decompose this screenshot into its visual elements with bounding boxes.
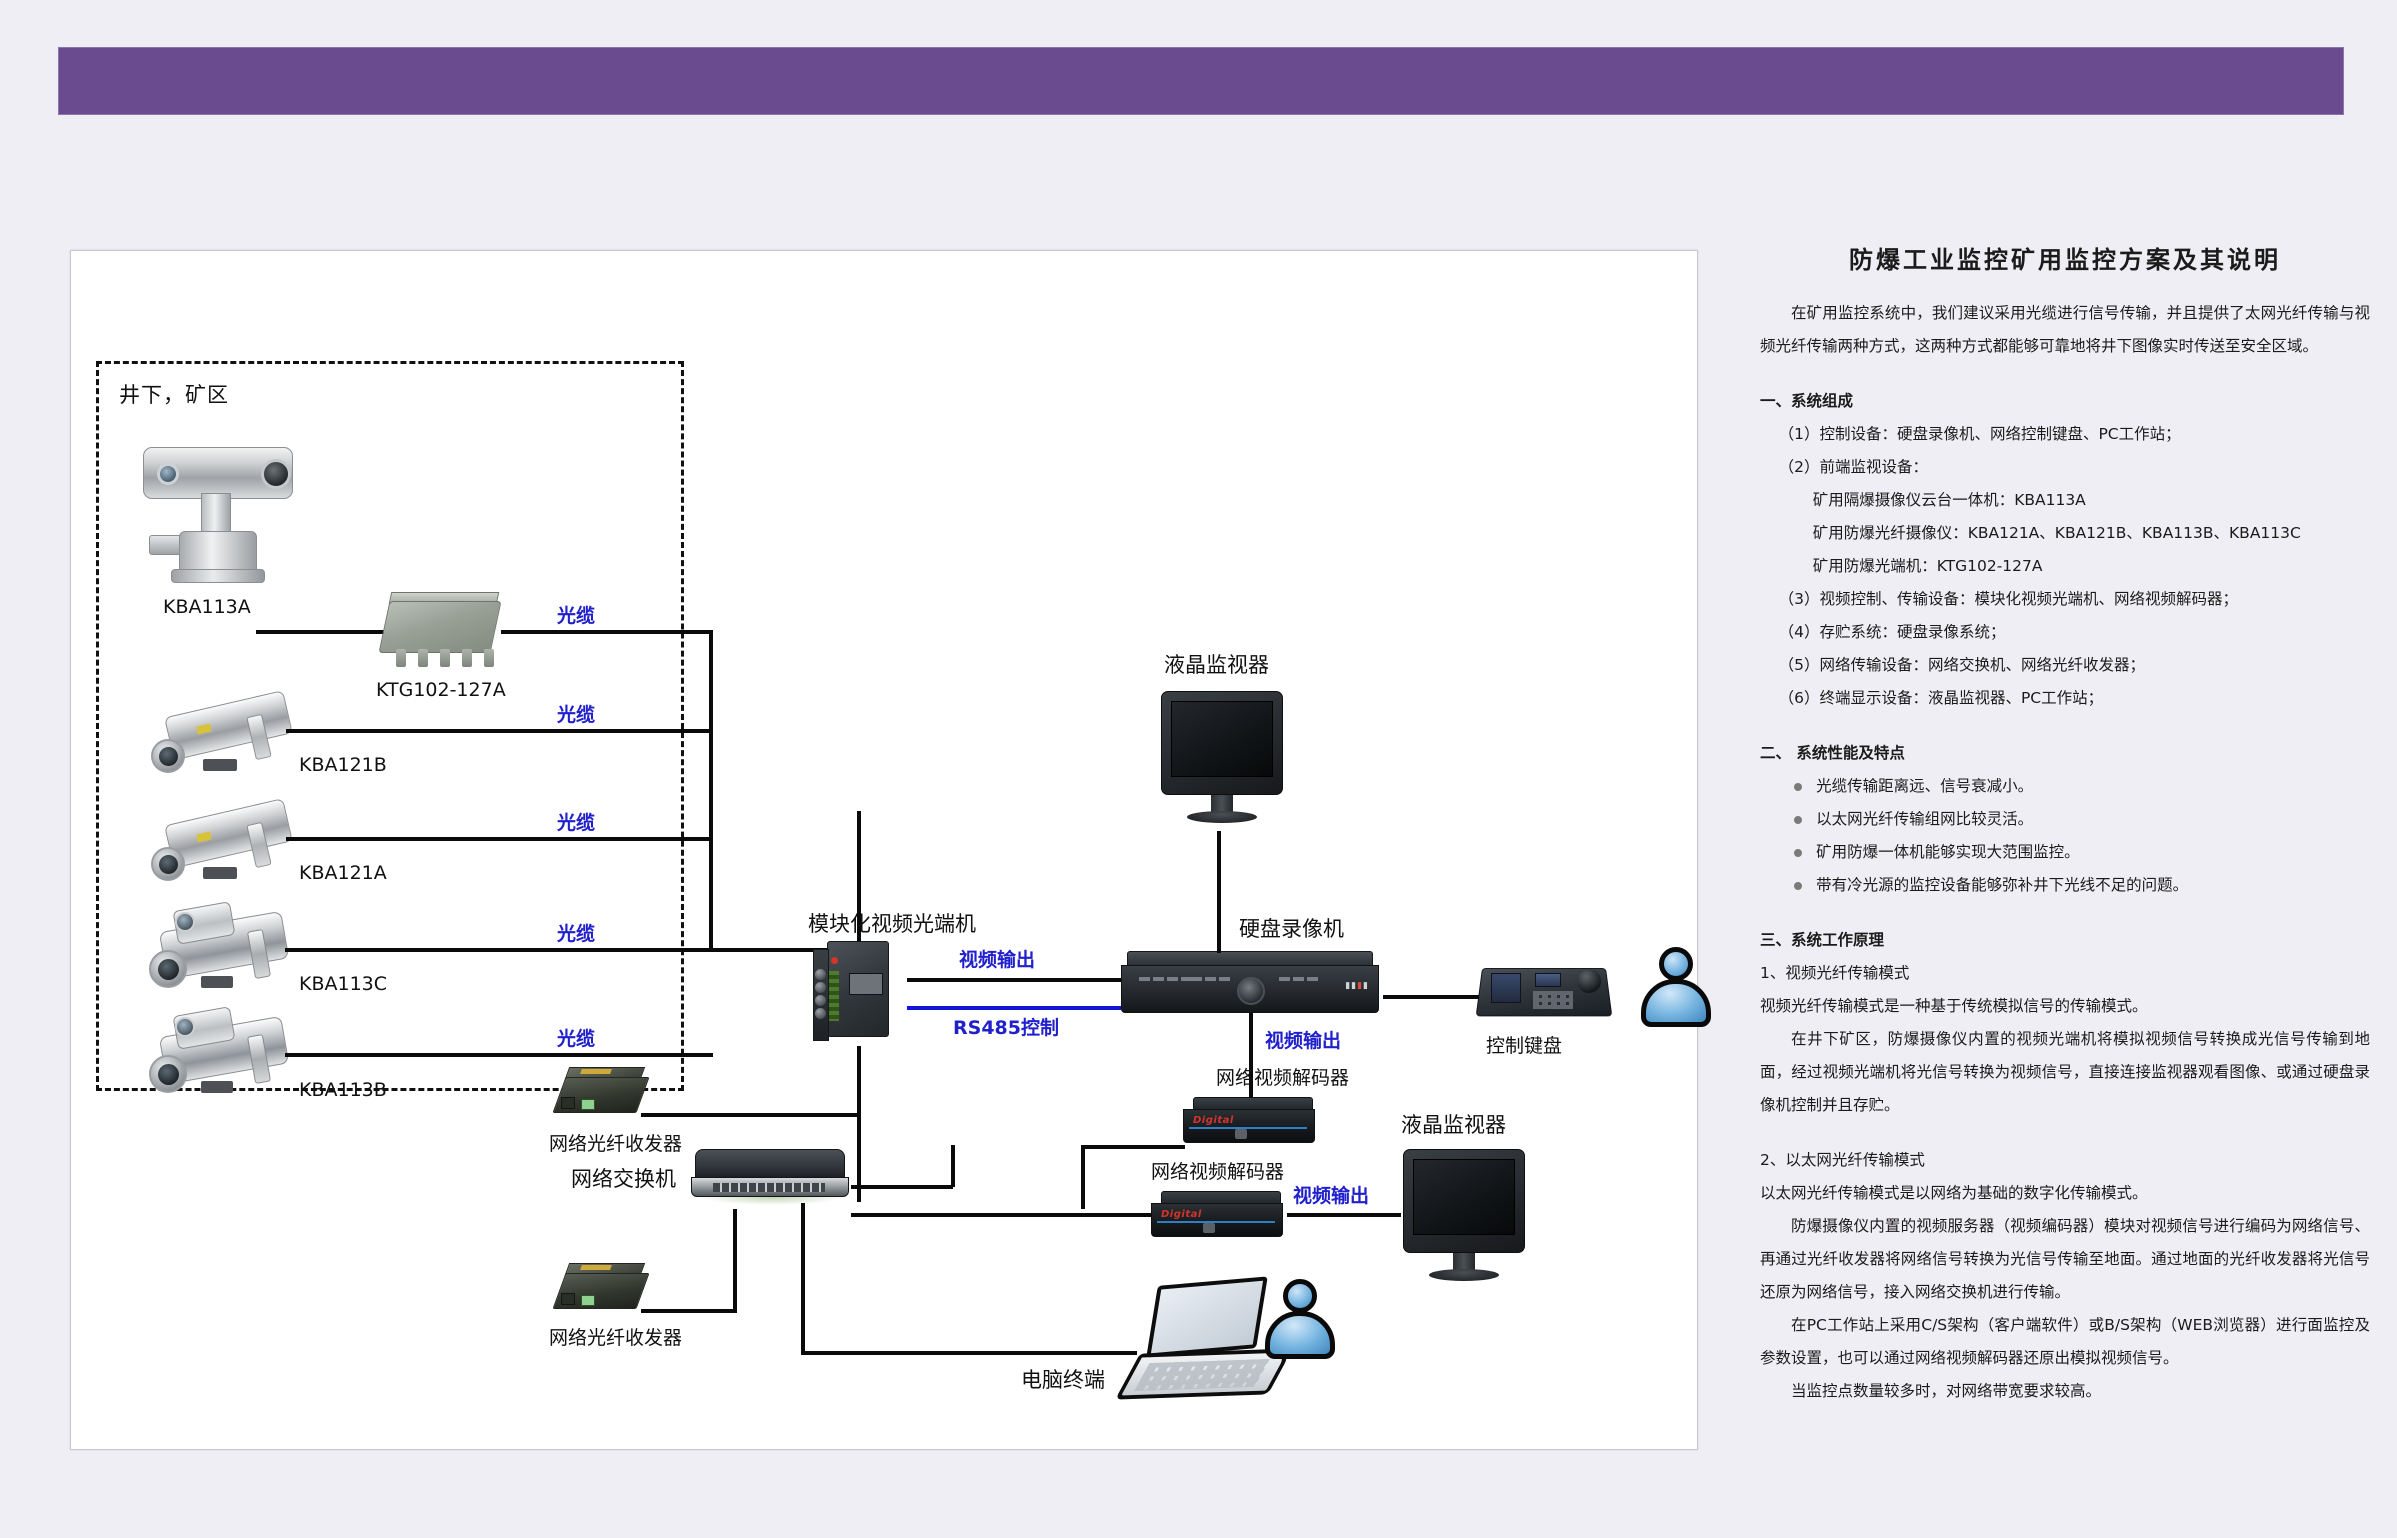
converter-rj45-port-icon	[581, 1295, 595, 1306]
label-cable-2: 光缆	[557, 700, 595, 727]
converter-sfp-port-icon	[561, 1293, 575, 1305]
dvr-buttons-icon	[1191, 977, 1230, 981]
device-camera-kba121a	[151, 811, 321, 901]
device-network-video-decoder-bottom: Digital	[1151, 1191, 1287, 1241]
converter-sfp-port-icon	[561, 1097, 575, 1109]
label-kba121a: KBA121A	[299, 862, 387, 884]
decoder-accent-stripe-icon	[1157, 1221, 1275, 1223]
article-panel: 防爆工业监控矿用监控方案及其说明 在矿用监控系统中，我们建议采用光缆进行信号传输…	[1760, 240, 2370, 1408]
device-junction-box-ktg102	[384, 601, 514, 681]
label-kba113a: KBA113A	[163, 596, 251, 618]
dvr-buttons-icon	[1139, 977, 1192, 981]
keyboard-secondary-display-icon	[1535, 973, 1561, 987]
section-3-sub2-heading: 2、以太网光纤传输模式	[1760, 1144, 2370, 1177]
section-1-item: （2）前端监视设备：	[1779, 451, 2370, 484]
link-decoder-mid-to-bus	[1081, 1145, 1185, 1149]
link-kba113c-to-trunk	[285, 948, 713, 952]
bullet-item: 以太网光纤传输组网比较灵活。	[1794, 803, 2370, 836]
bullet-item: 带有冷光源的监控设备能够弥补井下光线不足的问题。	[1794, 869, 2370, 902]
article-intro: 在矿用监控系统中，我们建议采用光缆进行信号传输，并且提供了太网光纤传输与视频光纤…	[1760, 297, 2370, 363]
terminal-block-icon	[829, 971, 839, 1021]
device-lcd-monitor-right	[1403, 1149, 1529, 1289]
label-kba113b: KBA113B	[299, 1079, 387, 1101]
gland-icon	[418, 649, 428, 667]
switch-top-cover-icon	[695, 1149, 845, 1179]
link-decoder-to-lcd-right	[1287, 1213, 1401, 1217]
label-kba121b: KBA121B	[299, 754, 387, 776]
ir-lamp-face-icon	[175, 912, 195, 932]
label-video-output-1: 视频输出	[959, 945, 1035, 972]
device-network-switch	[691, 1149, 851, 1207]
keyboard-display-icon	[1491, 973, 1521, 1003]
trunk-riser-vertical	[709, 630, 713, 950]
link-switch-bus-riser	[951, 1145, 955, 1187]
diagram-panel: 井下，矿区 KBA113A KTG102-127A 光缆	[70, 250, 1698, 1450]
camera-mount-icon	[203, 759, 237, 771]
label-fiber-converter-mid: 网络光纤收发器	[549, 1129, 682, 1156]
diagram-canvas: 井下，矿区 KBA113A KTG102-127A 光缆	[71, 251, 1697, 1449]
device-modular-video-optical-transceiver	[813, 941, 913, 1051]
laptop-keyboard-icon	[1134, 1359, 1269, 1391]
camera-lens-icon	[158, 959, 179, 980]
operator-avatar-top	[1639, 947, 1715, 1031]
camera-mount-icon	[201, 976, 233, 988]
gland-icon	[484, 649, 494, 667]
underground-zone-label: 井下，矿区	[119, 379, 229, 409]
link-decoder-mid-down	[1081, 1147, 1085, 1209]
section-1-item: （4）存贮系统：硬盘录像系统；	[1779, 616, 2370, 649]
section-2-heading: 二、 系统性能及特点	[1760, 737, 2370, 770]
power-led-icon	[831, 957, 838, 964]
link-switch-to-laptop	[801, 1351, 1137, 1355]
transceiver-faceplate-icon	[849, 973, 883, 995]
label-control-keyboard: 控制键盘	[1486, 1031, 1562, 1058]
avatar-body-icon	[1641, 979, 1711, 1027]
decoder-brand-icon: Digital	[1161, 1209, 1202, 1220]
device-fiber-converter-mid	[559, 1067, 651, 1117]
section-3-sub2-paragraph-3: 在PC工作站上采用C/S架构（客户端软件）或B/S架构（WEB浏览器）进行面监控…	[1760, 1309, 2370, 1375]
section-3-sub2-paragraph-2: 防爆摄像仪内置的视频服务器（视频编码器）模块对视频信号进行编码为网络信号、再通过…	[1760, 1210, 2370, 1309]
label-modular-video-optical: 模块化视频光端机	[808, 908, 976, 938]
label-video-output-3: 视频输出	[1293, 1181, 1369, 1208]
label-network-video-decoder-mid: 网络视频解码器	[1216, 1063, 1349, 1090]
avatar-body-icon	[1265, 1311, 1335, 1359]
keyboard-keys-icon	[1533, 991, 1573, 1009]
avatar-head-icon	[1659, 947, 1693, 981]
spacer	[1760, 715, 2370, 737]
label-fiber-converter-bottom: 网络光纤收发器	[549, 1323, 682, 1350]
link-kba121a-to-trunk	[286, 837, 713, 841]
junction-box-body-icon	[378, 601, 501, 653]
link-fiberconv-mid-to-bus	[641, 1113, 857, 1117]
converter-rj45-port-icon	[581, 1099, 595, 1110]
device-camera-kba121b	[151, 703, 321, 793]
camera-lens-icon	[159, 855, 178, 874]
link-fiberconv-bottom-riser	[733, 1209, 737, 1311]
spacer	[1760, 1122, 2370, 1144]
device-camera-kba113c	[149, 906, 319, 1006]
top-banner	[58, 47, 2344, 115]
section-1-item: （6）终端显示设备：液晶监视器、PC工作站；	[1779, 682, 2370, 715]
device-control-keyboard	[1479, 957, 1613, 1021]
camera-mount-icon	[203, 867, 237, 879]
section-3-sub1-paragraph-2: 在井下矿区，防爆摄像仪内置的视频光端机将模拟视频信号转换成光信号传输到地面，经过…	[1760, 1023, 2370, 1122]
link-kba113b-to-fiberconv	[285, 1053, 713, 1057]
label-video-output-2: 视频输出	[1265, 1026, 1341, 1053]
section-3-sub1-paragraph-1: 视频光纤传输模式是一种基于传统模拟信号的传输模式。	[1760, 990, 2370, 1023]
link-kba121b-to-trunk	[286, 729, 713, 733]
section-1-subitem: 矿用防爆光纤摄像仪：KBA121A、KBA121B、KBA113B、KBA113…	[1813, 517, 2370, 550]
monitor-stand-base-icon	[1187, 811, 1257, 823]
ptz-base-icon	[179, 531, 257, 573]
dvr-buttons-icon	[1279, 977, 1318, 981]
spacer	[1760, 363, 2370, 385]
label-pc-terminal: 电脑终端	[1021, 1364, 1105, 1394]
ptz-foot-icon	[171, 569, 265, 583]
device-ptz-camera-kba113a	[143, 419, 313, 589]
label-ktg102-127a: KTG102-127A	[376, 679, 506, 701]
camera-lens-icon	[159, 747, 178, 766]
avatar-head-icon	[1283, 1279, 1317, 1313]
section-1-item: （5）网络传输设备：网络交换机、网络光纤收发器；	[1779, 649, 2370, 682]
device-dvr: ▮▮▮▮	[1121, 951, 1383, 1015]
gland-icon	[462, 649, 472, 667]
spacer	[1760, 902, 2370, 924]
section-1-item: （1）控制设备：硬盘录像机、网络控制键盘、PC工作站；	[1779, 418, 2370, 451]
label-cable-4: 光缆	[557, 919, 595, 946]
article-title: 防爆工业监控矿用监控方案及其说明	[1760, 240, 2370, 275]
device-network-video-decoder-mid: Digital	[1183, 1097, 1319, 1147]
label-cable-1: 光缆	[557, 601, 595, 628]
ptz-ir-lamp-icon	[157, 463, 179, 485]
label-network-switch: 网络交换机	[571, 1163, 676, 1193]
device-camera-kba113b	[149, 1011, 319, 1111]
link-fiberconv-bottom-to-switch	[641, 1309, 737, 1313]
monitor-screen-icon	[1171, 701, 1273, 777]
link-switch-to-decoder-bus	[851, 1185, 953, 1189]
section-1-item: （3）视频控制、传输设备：模块化视频光端机、网络视频解码器；	[1779, 583, 2370, 616]
section-3-heading: 三、系统工作原理	[1760, 924, 2370, 957]
section-1-subitem: 矿用隔爆摄像仪云台一体机：KBA113A	[1813, 484, 2370, 517]
link-rs485-control	[907, 1006, 1121, 1010]
monitor-screen-icon	[1413, 1159, 1515, 1235]
switch-ports-icon	[713, 1183, 825, 1192]
camera-mount-icon	[201, 1081, 233, 1093]
link-ptz-to-junctionbox	[256, 630, 384, 634]
ptz-connector-icon	[149, 535, 183, 555]
monitor-stand-base-icon	[1429, 1269, 1499, 1281]
label-dvr: 硬盘录像机	[1239, 913, 1344, 943]
gland-icon	[396, 649, 406, 667]
link-video-output-to-dvr	[907, 978, 1121, 982]
keyboard-joystick-icon[interactable]	[1577, 969, 1601, 993]
dvr-brand-icon: ▮▮▮▮	[1345, 981, 1369, 991]
gland-icon	[440, 649, 450, 667]
label-rs485-control: RS485控制	[953, 1013, 1059, 1040]
laptop-screen-icon	[1146, 1276, 1268, 1357]
section-3-sub2-paragraph-1: 以太网光纤传输模式是以网络为基础的数字化传输模式。	[1760, 1177, 2370, 1210]
ir-lamp-face-icon	[175, 1017, 195, 1037]
switch-shadow-icon	[699, 1197, 845, 1205]
label-network-video-decoder-bottom: 网络视频解码器	[1151, 1157, 1284, 1184]
device-lcd-monitor-top	[1161, 691, 1287, 831]
section-3-sub2-paragraph-4: 当监控点数量较多时，对网络带宽要求较高。	[1760, 1375, 2370, 1408]
bnc-connectors-icon	[814, 967, 828, 1027]
decoder-brand-icon: Digital	[1193, 1115, 1234, 1126]
operator-avatar-bottom	[1263, 1279, 1339, 1363]
decoder-button-icon	[1203, 1223, 1215, 1233]
section-1-subitem: 矿用防爆光端机：KTG102-127A	[1813, 550, 2370, 583]
section-2-bullet-list: 光缆传输距离远、信号衰减小。 以太网光纤传输组网比较灵活。 矿用防爆一体机能够实…	[1760, 770, 2370, 902]
label-cable-3: 光缆	[557, 808, 595, 835]
label-lcd-monitor-right: 液晶监视器	[1401, 1109, 1506, 1139]
link-switch-to-laptop-riser	[801, 1203, 805, 1355]
link-junctionbox-to-trunk	[501, 630, 713, 634]
label-cable-5: 光缆	[557, 1024, 595, 1051]
device-fiber-converter-bottom	[559, 1263, 651, 1313]
converter-label-icon	[580, 1265, 612, 1270]
dvr-jog-dial-icon[interactable]	[1237, 977, 1265, 1005]
converter-label-icon	[580, 1069, 612, 1074]
link-dvr-to-lcd-monitor	[1217, 831, 1221, 953]
section-1-heading: 一、系统组成	[1760, 385, 2370, 418]
bullet-item: 矿用防爆一体机能够实现大范围监控。	[1794, 836, 2370, 869]
link-switch-to-decoder-bottom	[851, 1213, 1151, 1217]
link-dvr-to-keyboard	[1383, 995, 1483, 999]
ptz-lens-icon	[261, 459, 291, 489]
decoder-button-icon	[1235, 1129, 1247, 1139]
bullet-item: 光缆传输距离远、信号衰减小。	[1794, 770, 2370, 803]
label-lcd-monitor-top: 液晶监视器	[1164, 649, 1269, 679]
decoder-accent-stripe-icon	[1189, 1127, 1307, 1129]
camera-lens-icon	[158, 1064, 179, 1085]
section-3-sub1-heading: 1、视频光纤传输模式	[1760, 957, 2370, 990]
link-modular-to-switch-trunk	[857, 1046, 861, 1202]
label-kba113c: KBA113C	[299, 973, 387, 995]
